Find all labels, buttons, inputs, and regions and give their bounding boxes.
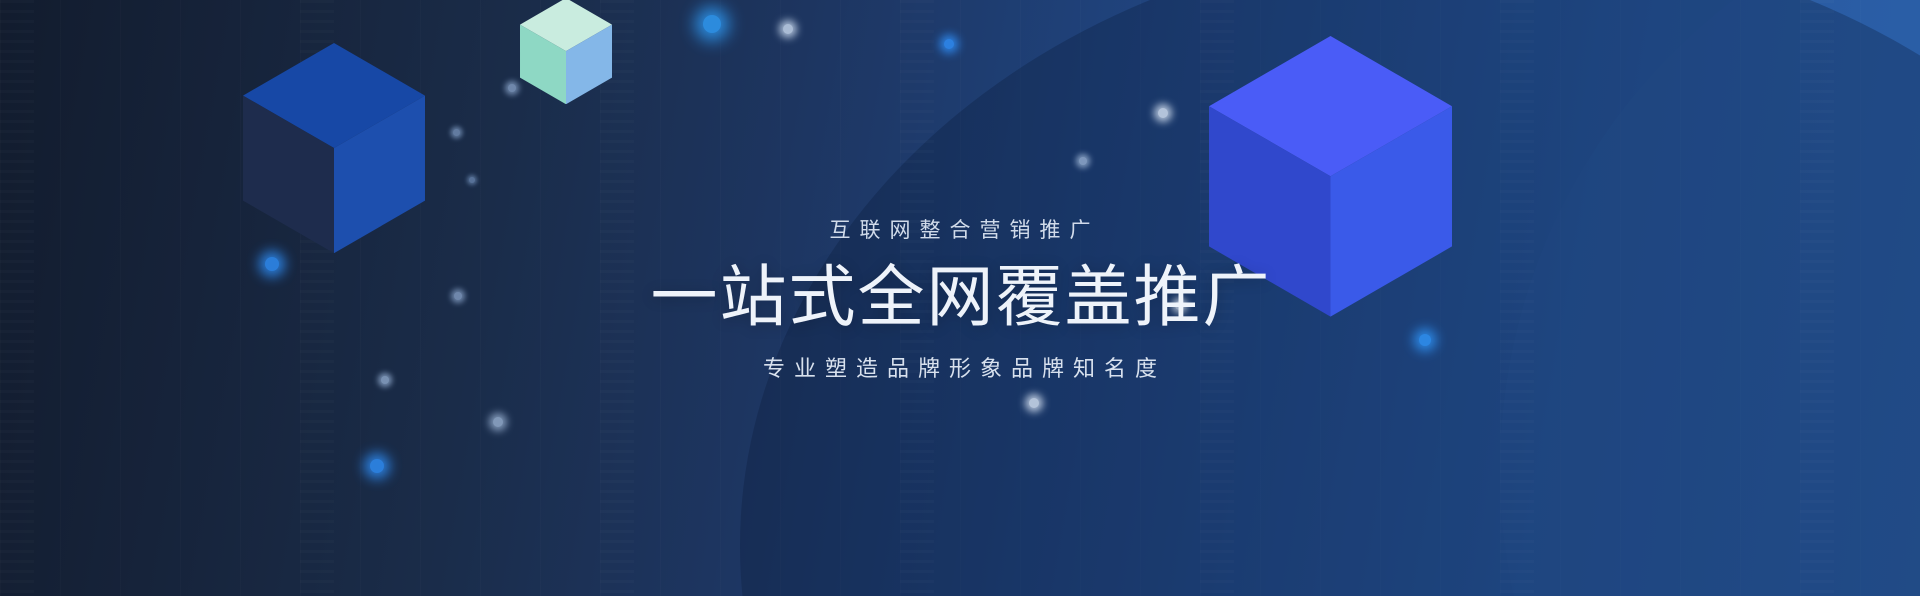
dot-white-right-a — [1158, 108, 1168, 118]
dot-faint-left-a — [508, 84, 516, 92]
dot-white-right-e — [1029, 398, 1039, 408]
dot-faint-right-b — [1079, 157, 1087, 165]
dot-blue-large-top — [703, 15, 721, 33]
dot-blue-bottom-left — [370, 459, 384, 473]
dot-faint-left-b — [453, 129, 460, 136]
dot-faint-left-f — [493, 417, 503, 427]
mint-cube — [520, 0, 612, 104]
dot-white-small-top — [783, 24, 793, 34]
banner-text-block: 互联网整合营销推广 一站式全网覆盖推广 专业塑造品牌形象品牌知名度 — [0, 218, 1920, 383]
banner-eyebrow: 互联网整合营销推广 — [0, 218, 1920, 244]
banner-subline: 专业塑造品牌形象品牌知名度 — [0, 355, 1920, 383]
dot-blue-small-top — [944, 39, 954, 49]
dot-faint-left-c — [469, 177, 475, 183]
promo-banner: 互联网整合营销推广 一站式全网覆盖推广 专业塑造品牌形象品牌知名度 — [0, 0, 1920, 596]
banner-headline: 一站式全网覆盖推广 — [0, 258, 1920, 338]
